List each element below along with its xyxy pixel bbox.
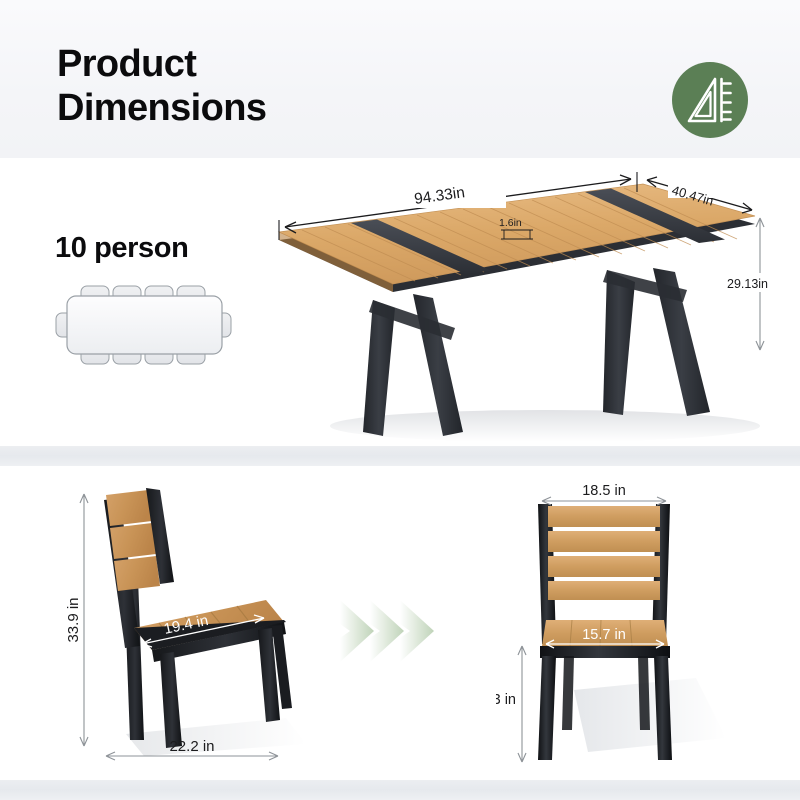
seating-capacity-label: 10 person [55,232,188,265]
table-illustration: 94.33in 40.47in 1.6in 29.13in [255,160,800,450]
page-title-line-1: Product [57,43,196,85]
header-band: Product Dimensions [0,0,800,158]
dimension-table-height: 29.13in [725,218,795,350]
transition-arrows [338,592,460,670]
seating-plan-diagram [55,283,255,367]
dimension-chair-seat-height: 17.3 in [496,646,526,762]
table-shadow [330,410,760,442]
chair-seat-width-value: 15.7 in [582,627,626,643]
section-divider-bottom [0,780,800,800]
chair-height-value: 33.9 in [65,597,82,642]
chair-front-illustration: 18.5 in 15.7 in 17.3 in [496,468,800,780]
chair-width-value: 22.2 in [169,738,214,755]
product-dimensions-infographic: Product Dimensions [0,0,800,800]
dimension-chair-back-width: 18.5 in [542,483,666,505]
chair-side-illustration: 33.9 in 19.4 in 22.2 in [48,468,338,780]
table-top-view-icon [67,296,222,354]
chevron-right-icon [338,592,460,670]
dimension-chair-height: 33.9 in [65,494,88,746]
page-title-line-2: Dimensions [57,86,266,130]
chair-shadow [126,718,306,756]
triangle-ruler-icon [672,62,748,138]
chair-shadow-front [574,678,726,752]
page-title: Product Dimensions [57,42,266,130]
table-thickness-value: 1.6in [499,217,522,229]
chair-seat-height-value: 17.3 in [496,692,516,708]
chair-front-back-slats [548,506,660,600]
chair-back-width-value: 18.5 in [582,483,626,499]
dimensions-badge [672,62,748,138]
section-divider-top [0,446,800,466]
table-height-value: 29.13in [727,277,768,291]
